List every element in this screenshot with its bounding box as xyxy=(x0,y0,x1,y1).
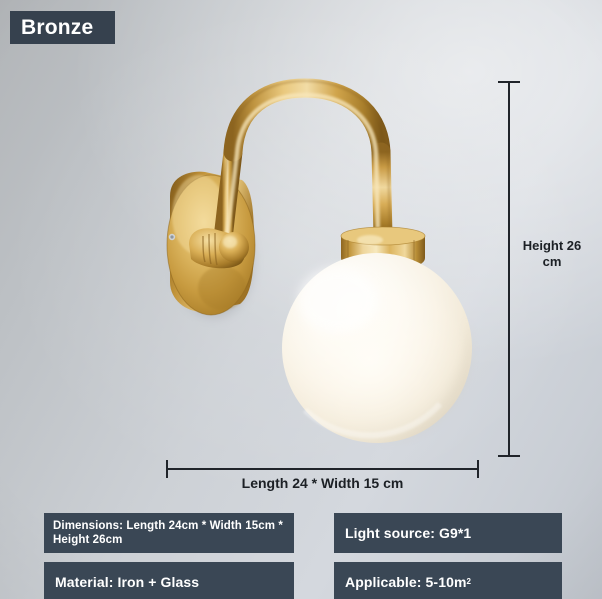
mounting-knob xyxy=(189,228,249,268)
opal-glass-globe xyxy=(282,253,472,443)
height-dimension-label-line1: Height 26 xyxy=(506,238,598,254)
spec-box-light-source: Light source: G9*1 xyxy=(334,513,562,553)
product-spec-image: Bronze Height 26 cm Length 24 * Width 15… xyxy=(0,0,602,599)
spec-light-source-text: Light source: G9*1 xyxy=(345,525,471,541)
spec-applicable-text: Applicable: 5-10m xyxy=(345,574,467,590)
spec-box-dimensions: Dimensions: Length 24cm * Width 15cm * H… xyxy=(44,513,294,553)
height-dimension-label-line2: cm xyxy=(506,254,598,270)
spec-material-text: Material: Iron + Glass xyxy=(55,574,199,590)
width-dimension-label: Length 24 * Width 15 cm xyxy=(167,475,478,491)
spec-box-material: Material: Iron + Glass xyxy=(44,562,294,599)
color-variant-badge: Bronze xyxy=(10,11,115,44)
color-variant-label: Bronze xyxy=(21,16,93,40)
spec-dimensions-text: Dimensions: Length 24cm * Width 15cm * H… xyxy=(53,519,285,547)
width-dimension-line xyxy=(167,468,478,470)
height-dimension-label: Height 26 cm xyxy=(506,238,598,270)
height-dimension-tick-bottom xyxy=(498,455,520,457)
wall-sconce-lamp xyxy=(0,0,602,599)
spec-box-applicable-area: Applicable: 5-10m2 xyxy=(334,562,562,599)
